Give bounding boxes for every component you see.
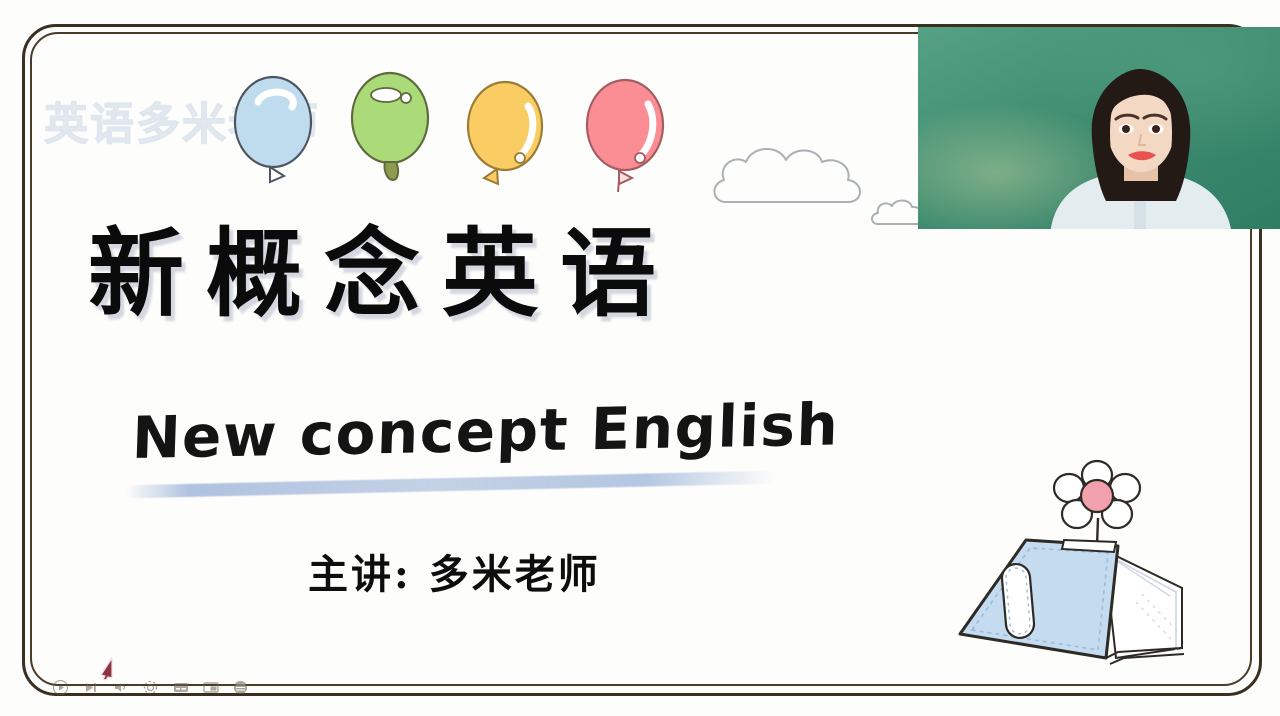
page-subtitle-english: New concept English <box>131 391 834 472</box>
slide-canvas: 英语多米老师 <box>0 0 1280 716</box>
settings-button[interactable] <box>142 679 159 696</box>
pip-button[interactable] <box>202 679 219 696</box>
instructor-webcam-overlay[interactable] <box>918 27 1280 229</box>
balloon-yellow-icon <box>464 78 548 197</box>
balloon-blue-icon <box>232 72 318 193</box>
balloon-green-icon <box>348 68 434 193</box>
video-player-controls[interactable] <box>52 679 249 696</box>
play-button[interactable] <box>52 679 69 696</box>
instructor-figure <box>1036 65 1246 229</box>
page-subtitle-english-wrap: New concept English <box>132 404 832 472</box>
page-title-chinese: 新概念英语 <box>88 222 848 326</box>
subtitles-button[interactable] <box>172 679 189 696</box>
balloon-pink-icon <box>584 76 670 203</box>
next-button[interactable] <box>82 679 99 696</box>
subtitle-underline <box>126 471 774 499</box>
book-illustration <box>946 452 1196 677</box>
cloud-large-icon <box>706 136 886 227</box>
presenter-name: 主讲: 多米老师 <box>308 542 601 600</box>
volume-button[interactable] <box>112 679 129 696</box>
fullscreen-button[interactable] <box>232 679 249 696</box>
